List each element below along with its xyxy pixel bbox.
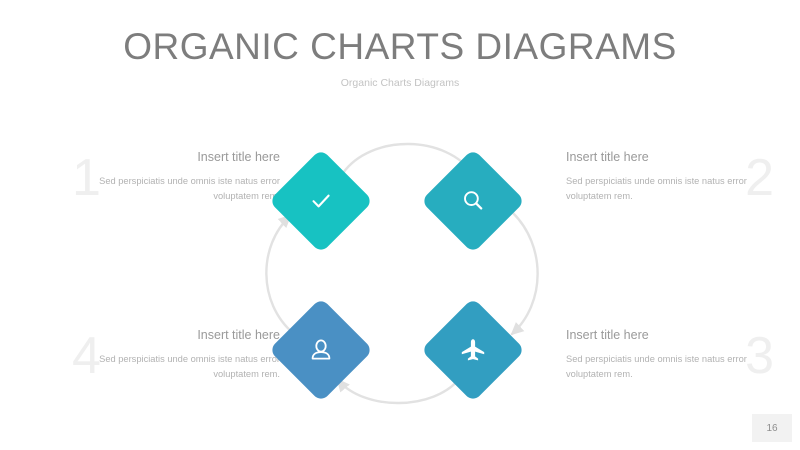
block-body-3: Sed perspiciatis unde omnis iste natus e…: [566, 352, 776, 383]
airplane-icon: [458, 335, 488, 365]
arrow-left: [266, 216, 293, 333]
arrow-connectors: [246, 128, 556, 428]
block-body-2: Sed perspiciatis unde omnis iste natus e…: [566, 174, 776, 205]
slide: ORGANIC CHARTS DIAGRAMS Organic Charts D…: [0, 0, 800, 450]
page-subtitle: Organic Charts Diagrams: [0, 77, 800, 89]
block-title-3: Insert title here: [566, 328, 776, 342]
user-icon: [306, 335, 336, 365]
check-icon: [306, 186, 336, 216]
arrow-right: [512, 213, 538, 334]
search-icon: [458, 186, 488, 216]
cycle-diagram: [246, 128, 556, 428]
page-title: ORGANIC CHARTS DIAGRAMS: [0, 26, 800, 68]
arrow-bottom: [338, 378, 460, 403]
info-block-2[interactable]: 2 Insert title here Sed perspiciatis und…: [566, 150, 776, 205]
info-block-3[interactable]: 3 Insert title here Sed perspiciatis und…: [566, 328, 776, 383]
page-number: 16: [752, 414, 792, 442]
block-title-2: Insert title here: [566, 150, 776, 164]
